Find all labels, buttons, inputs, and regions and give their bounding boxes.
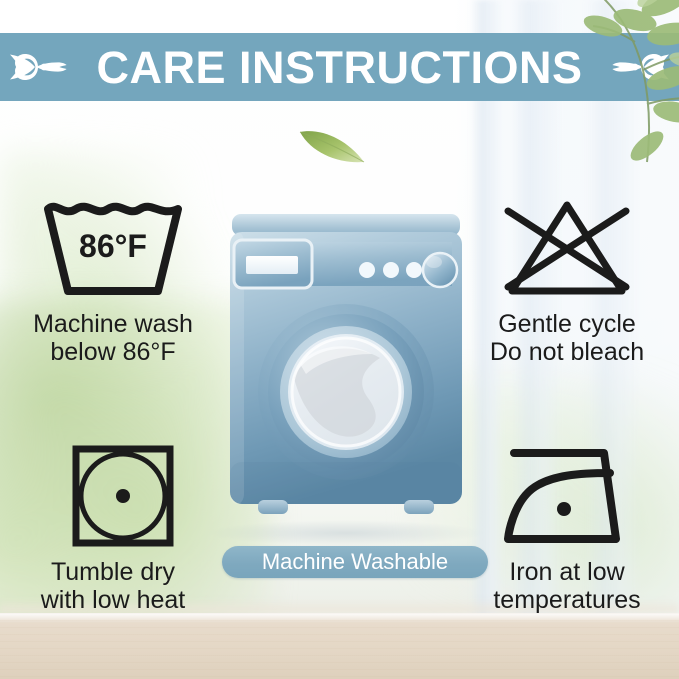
- fleur-de-lis-icon: [607, 45, 671, 89]
- care-symbol-label: Tumble dry with low heat: [8, 558, 218, 614]
- care-symbol-do-not-bleach: Gentle cycle Do not bleach: [462, 192, 672, 366]
- page-title: CARE INSTRUCTIONS: [96, 45, 582, 90]
- care-symbol-label-line1: Tumble dry: [51, 558, 175, 586]
- care-symbol-label-line1: Gentle cycle: [498, 310, 636, 338]
- machine-washable-badge: Machine Washable: [222, 546, 488, 578]
- care-symbol-label-line2: Do not bleach: [462, 338, 672, 366]
- care-symbol-label-line1: Machine wash: [33, 310, 193, 338]
- care-instructions-graphic: CARE INSTRUCTIONS: [0, 0, 679, 679]
- iron-low-icon: [462, 440, 672, 552]
- care-symbol-label-line2: with low heat: [8, 586, 218, 614]
- care-symbol-label-line2: temperatures: [462, 586, 672, 614]
- care-symbol-label-line1: Iron at low: [509, 558, 624, 586]
- header-banner: CARE INSTRUCTIONS: [0, 33, 679, 101]
- care-symbol-label: Machine wash below 86°F: [8, 310, 218, 366]
- wooden-table-surface: [0, 613, 679, 679]
- machine-washable-badge-label: Machine Washable: [262, 551, 448, 573]
- fleur-de-lis-icon: [8, 45, 72, 89]
- care-symbol-label: Gentle cycle Do not bleach: [462, 310, 672, 366]
- tumble-dry-low-icon: [8, 440, 218, 552]
- care-symbol-machine-wash: 86°F Machine wash below 86°F: [8, 192, 218, 366]
- care-symbol-label-line2: below 86°F: [8, 338, 218, 366]
- wash-temperature-value: 86°F: [79, 228, 147, 264]
- care-symbol-label: Iron at low temperatures: [462, 558, 672, 614]
- table-wood-grain: [0, 613, 679, 679]
- leaf-icon: [296, 120, 368, 170]
- care-symbol-iron-low: Iron at low temperatures: [462, 440, 672, 614]
- washing-machine-illustration: [228, 212, 464, 532]
- triangle-crossed-bleach-icon: [462, 192, 672, 304]
- care-symbol-tumble-dry: Tumble dry with low heat: [8, 440, 218, 614]
- wash-tub-icon: 86°F: [8, 192, 218, 304]
